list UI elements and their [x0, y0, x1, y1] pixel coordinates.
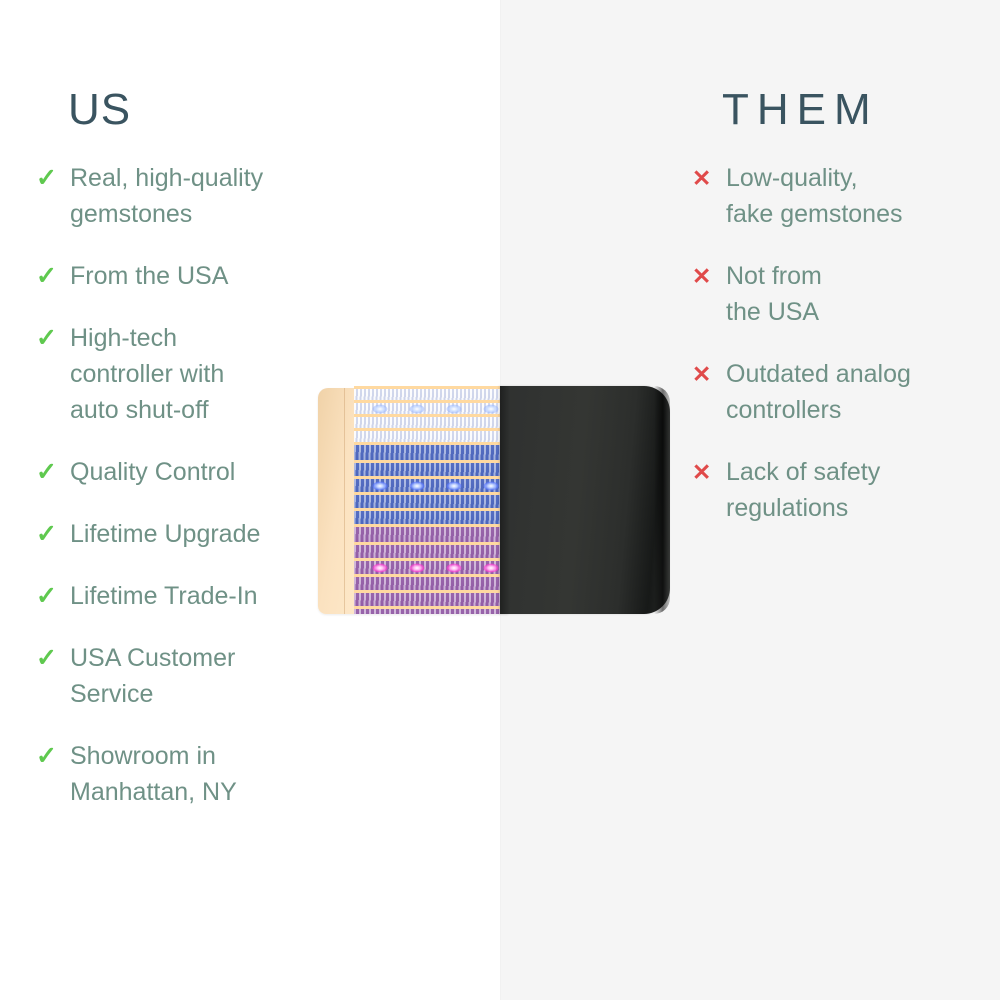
- gemstone-stripe-purple: [354, 606, 500, 614]
- us-benefit-item: ✓From the USA: [36, 258, 376, 294]
- led-glow-icon: [410, 481, 425, 490]
- led-glow-icon: [447, 404, 462, 413]
- check-icon: ✓: [36, 578, 62, 614]
- us-heading: US: [68, 88, 131, 132]
- cross-icon: ✕: [692, 356, 718, 392]
- check-icon: ✓: [36, 516, 62, 552]
- led-glow-icon: [484, 404, 499, 413]
- us-benefit-item-label: From the USA: [70, 258, 376, 294]
- check-icon: ✓: [36, 640, 62, 676]
- them-drawback-item: ✕Not from the USA: [692, 258, 992, 330]
- us-benefit-item: ✓Real, high-quality gemstones: [36, 160, 376, 232]
- check-icon: ✓: [36, 258, 62, 294]
- gemstone-stripe-purple: [354, 524, 500, 542]
- comparison-infographic: US ✓Real, high-quality gemstones✓From th…: [0, 0, 1000, 1000]
- led-glow-icon: [373, 563, 388, 572]
- gemstone-stripe-blue: [354, 508, 500, 524]
- gemstone-stripe-purple: [354, 574, 500, 590]
- gemstone-stripe-purple: [354, 590, 500, 606]
- cross-icon: ✕: [692, 454, 718, 490]
- led-glow-icon: [410, 404, 425, 413]
- gemstone-stripe-blue: [354, 442, 500, 460]
- them-drawback-item-label: Lack of safety regulations: [726, 454, 992, 526]
- us-benefit-item-label: Real, high-quality gemstones: [70, 160, 376, 232]
- us-benefit-item-label: USA Customer Service: [70, 640, 376, 712]
- them-drawbacks-list: ✕Low-quality, fake gemstones✕Not from th…: [692, 160, 992, 552]
- them-drawback-item: ✕Low-quality, fake gemstones: [692, 160, 992, 232]
- them-drawback-item: ✕Lack of safety regulations: [692, 454, 992, 526]
- gemstone-stripe-purple: [354, 542, 500, 558]
- cross-icon: ✕: [692, 160, 718, 196]
- gemstone-stripes-panel: [354, 386, 500, 614]
- cross-icon: ✕: [692, 258, 718, 294]
- us-benefit-item: ✓Showroom in Manhattan, NY: [36, 738, 376, 810]
- product-comparison-image: [318, 386, 670, 614]
- us-benefit-item-label: Showroom in Manhattan, NY: [70, 738, 376, 810]
- led-glow-icon: [447, 563, 462, 572]
- gemstone-stripe-blue: [354, 476, 500, 492]
- us-benefit-item: ✓USA Customer Service: [36, 640, 376, 712]
- them-heading: THEM: [722, 88, 879, 132]
- plain-black-mat: [500, 386, 670, 614]
- check-icon: ✓: [36, 160, 62, 196]
- gemstone-stripe-blue: [354, 492, 500, 508]
- them-drawback-item: ✕Outdated analog controllers: [692, 356, 992, 428]
- led-glow-icon: [410, 563, 425, 572]
- gemstone-stripe-blue: [354, 460, 500, 476]
- led-glow-icon: [447, 481, 462, 490]
- them-drawback-item-label: Low-quality, fake gemstones: [726, 160, 992, 232]
- gemstone-stripe-white: [354, 386, 500, 400]
- led-glow-icon: [484, 481, 499, 490]
- gemstone-stripe-purple: [354, 558, 500, 574]
- led-glow-icon: [484, 563, 499, 572]
- gemstone-stripe-white: [354, 414, 500, 428]
- gemstone-stripe-white: [354, 400, 500, 414]
- check-icon: ✓: [36, 738, 62, 774]
- them-drawback-item-label: Not from the USA: [726, 258, 992, 330]
- gemstone-stripe-white: [354, 428, 500, 442]
- check-icon: ✓: [36, 454, 62, 490]
- led-glow-icon: [373, 404, 388, 413]
- them-drawback-item-label: Outdated analog controllers: [726, 356, 992, 428]
- check-icon: ✓: [36, 320, 62, 356]
- led-glow-icon: [373, 481, 388, 490]
